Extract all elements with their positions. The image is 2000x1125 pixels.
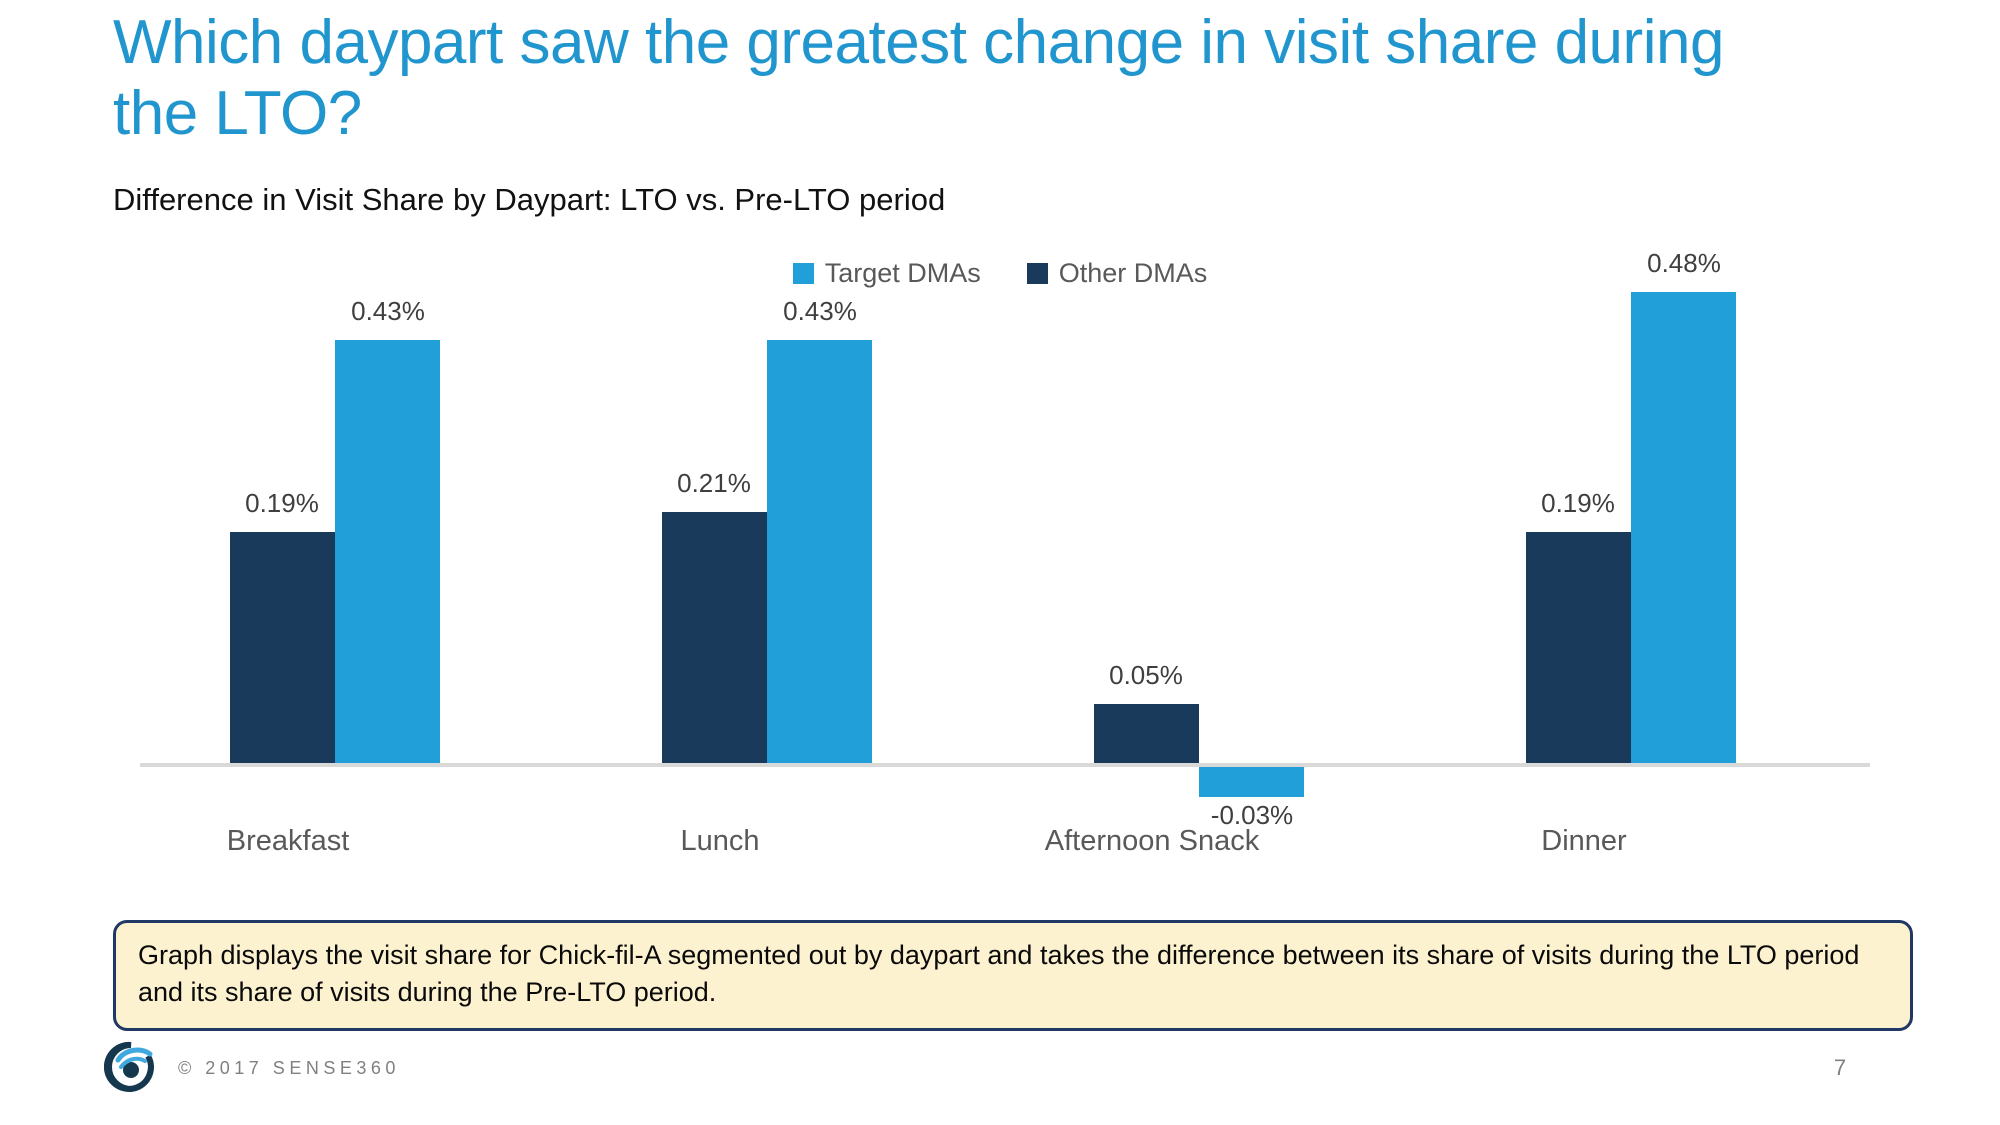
- bar-value-label-other-dmas-breakfast: 0.19%: [182, 488, 382, 519]
- slide-canvas: Which daypart saw the greatest change in…: [0, 0, 2000, 1125]
- bar-target-dmas-breakfast[interactable]: [335, 340, 440, 763]
- bar-other-dmas-dinner[interactable]: [1526, 532, 1631, 763]
- bar-group-lunch: 0.21% 0.43% Lunch: [572, 300, 1004, 860]
- bar-value-label-target-dmas-dinner: 0.48%: [1584, 248, 1784, 279]
- callout-text: Graph displays the visit share for Chick…: [138, 937, 1888, 1012]
- legend-swatch-icon-target-dmas: [793, 263, 814, 284]
- bar-value-label-other-dmas-afternoon-snack: 0.05%: [1046, 660, 1246, 691]
- bar-value-label-target-dmas-breakfast: 0.43%: [288, 296, 488, 327]
- sense360-logo-icon: [104, 1040, 158, 1094]
- legend-label-other-dmas: Other DMAs: [1059, 258, 1208, 289]
- chart-subtitle: Difference in Visit Share by Daypart: LT…: [113, 182, 945, 218]
- page-number: 7: [1820, 1055, 1860, 1081]
- legend-label-target-dmas: Target DMAs: [825, 258, 981, 289]
- bar-other-dmas-breakfast[interactable]: [230, 532, 335, 763]
- copyright-text: © 2017 SENSE360: [178, 1058, 400, 1079]
- legend-item-target-dmas[interactable]: Target DMAs: [793, 258, 981, 289]
- chart-plot-area: 0.19% 0.43% Breakfast 0.21% 0.43% Lunch …: [140, 300, 1870, 860]
- callout-box: Graph displays the visit share for Chick…: [113, 920, 1913, 1031]
- bar-value-label-target-dmas-lunch: 0.43%: [720, 296, 920, 327]
- page-title: Which daypart saw the greatest change in…: [113, 8, 1813, 149]
- bar-value-label-other-dmas-dinner: 0.19%: [1478, 488, 1678, 519]
- bar-group-afternoon-snack: 0.05% -0.03% Afternoon Snack: [1004, 300, 1436, 860]
- bar-target-dmas-lunch[interactable]: [767, 340, 872, 763]
- bar-other-dmas-lunch[interactable]: [662, 512, 767, 763]
- bar-other-dmas-afternoon-snack[interactable]: [1094, 704, 1199, 763]
- category-label-lunch: Lunch: [520, 825, 920, 858]
- category-label-afternoon-snack: Afternoon Snack: [952, 825, 1352, 858]
- bar-group-dinner: 0.19% 0.48% Dinner: [1436, 300, 1868, 860]
- bar-value-label-other-dmas-lunch: 0.21%: [614, 468, 814, 499]
- category-label-breakfast: Breakfast: [88, 825, 488, 858]
- bar-group-breakfast: 0.19% 0.43% Breakfast: [140, 300, 572, 860]
- legend-item-other-dmas[interactable]: Other DMAs: [1027, 258, 1208, 289]
- legend-swatch-icon-other-dmas: [1027, 263, 1048, 284]
- bar-target-dmas-dinner[interactable]: [1631, 292, 1736, 763]
- category-label-dinner: Dinner: [1384, 825, 1784, 858]
- bar-target-dmas-afternoon-snack[interactable]: [1199, 767, 1304, 797]
